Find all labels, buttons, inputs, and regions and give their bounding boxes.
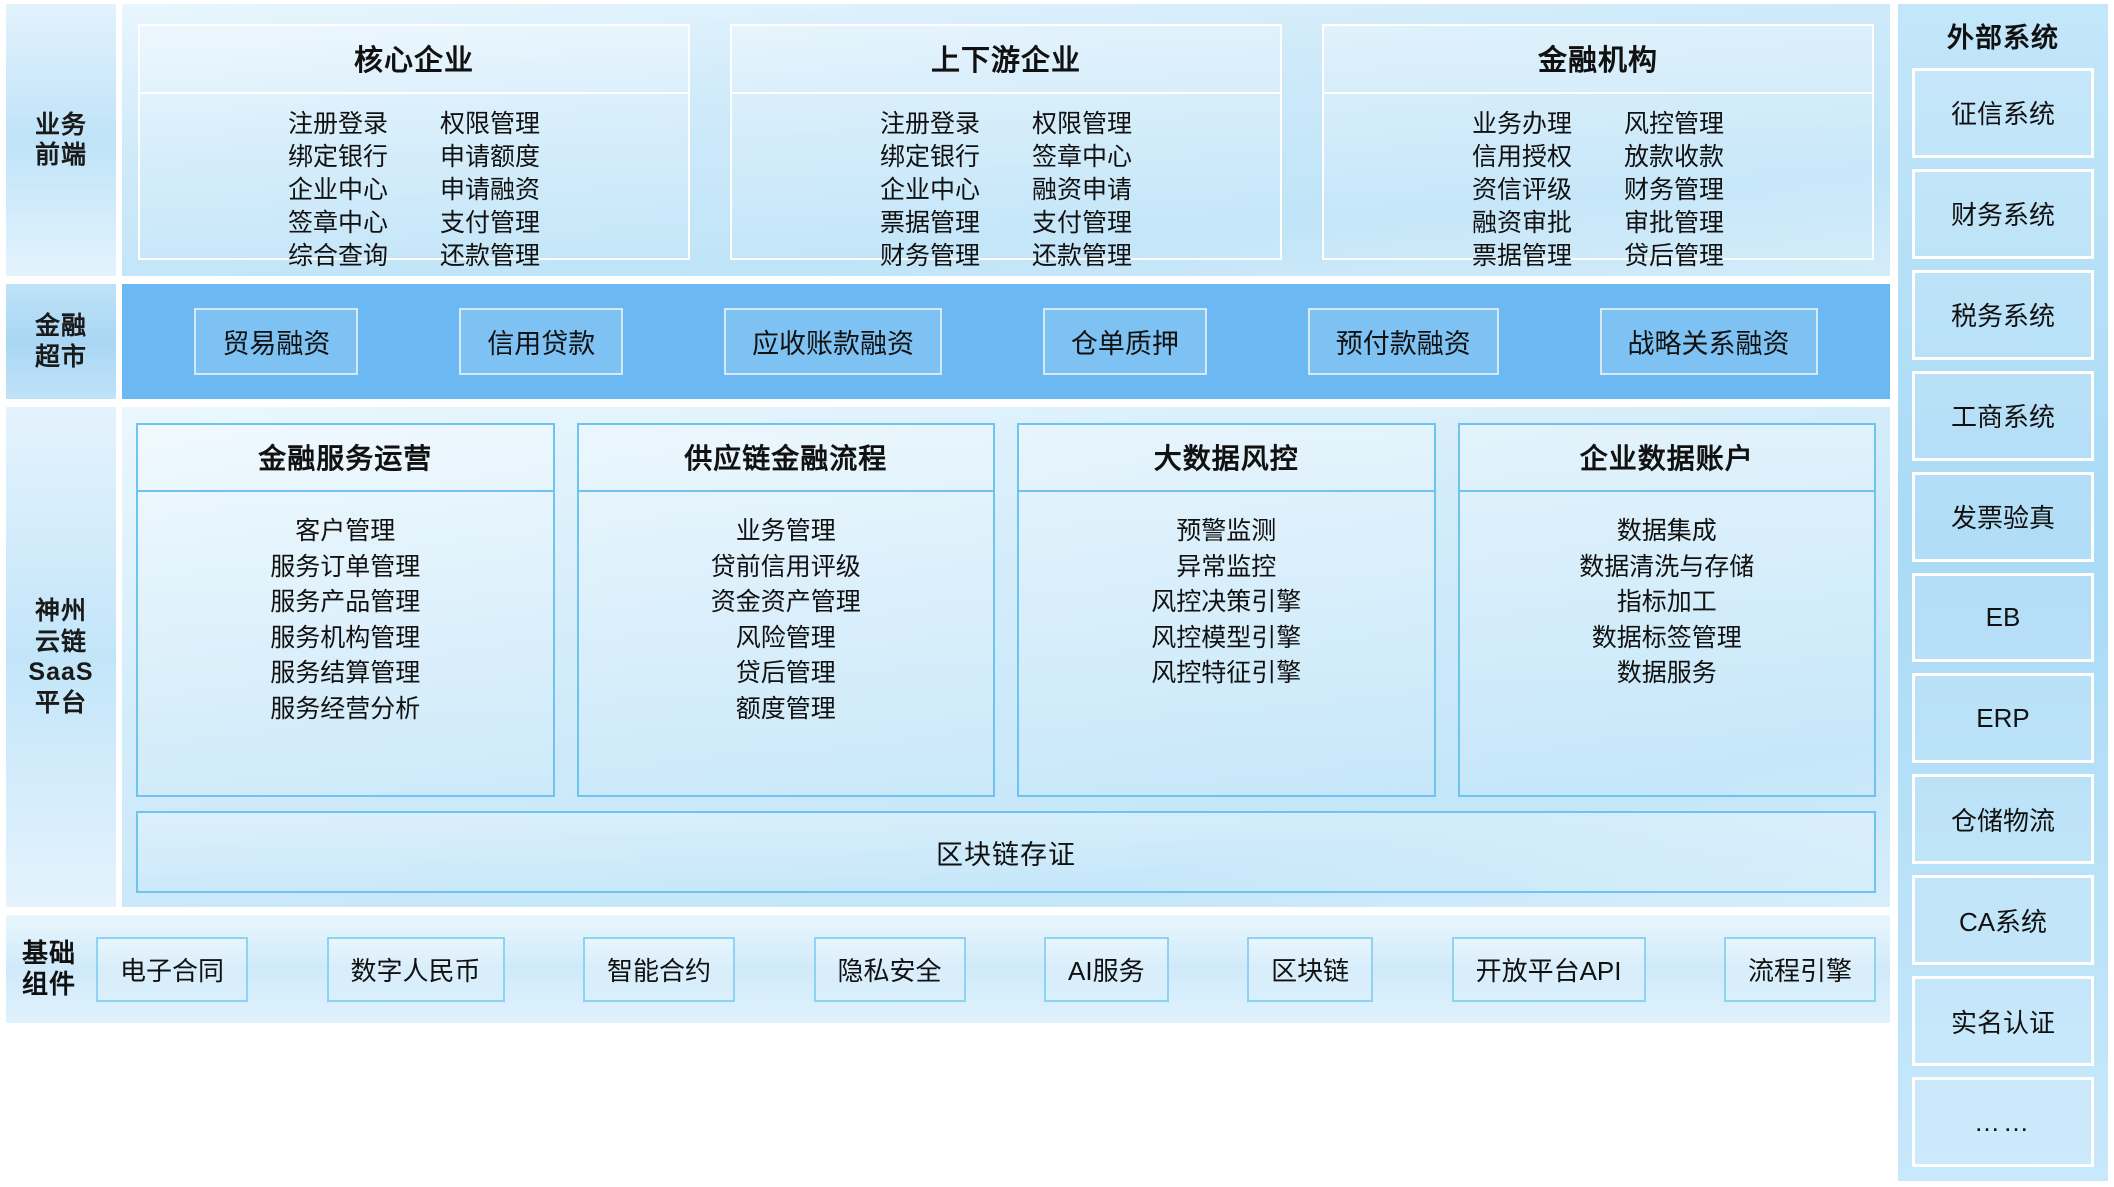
list-item: 服务结算管理 xyxy=(138,656,553,692)
external-item-real-name-auth[interactable]: 实名认证 xyxy=(1912,976,2094,1066)
external-systems-panel: 外部系统 征信系统 财务系统 税务系统 工商系统 发票验真 EB ERP 仓储物… xyxy=(1898,4,2108,1181)
card-column-left: 注册登录 绑定银行 企业中心 签章中心 综合查询 xyxy=(288,108,388,273)
financial-supermarket-label-line1: 金融 xyxy=(35,312,87,340)
list-item: 审批管理 xyxy=(1624,207,1724,240)
card-title: 企业数据账户 xyxy=(1460,425,1875,492)
saas-card-supply-chain-finance-process[interactable]: 供应链金融流程 业务管理 贷前信用评级 资金资产管理 风险管理 贷后管理 额度管… xyxy=(577,423,996,797)
list-item: 贷后管理 xyxy=(1624,240,1724,273)
base-chip-privacy-security[interactable]: 隐私安全 xyxy=(814,937,966,1002)
list-item: 票据管理 xyxy=(1472,240,1572,273)
list-item: 财务管理 xyxy=(1624,174,1724,207)
list-item: 绑定银行 xyxy=(880,141,980,174)
business-frontend-label: 业务 前端 xyxy=(6,4,116,276)
business-frontend-body: 核心企业 注册登录 绑定银行 企业中心 签章中心 综合查询 权限管理 xyxy=(122,4,1890,276)
list-item: 综合查询 xyxy=(288,240,388,273)
base-components-row: 基础 组件 电子合同 数字人民币 智能合约 隐私安全 AI服务 区块链 开放平台… xyxy=(6,915,1890,1023)
list-item: 服务经营分析 xyxy=(138,692,553,728)
list-item: 申请融资 xyxy=(440,174,540,207)
list-item: 企业中心 xyxy=(880,174,980,207)
saas-label-line3: SaaS xyxy=(28,658,93,686)
market-chip-credit-loan[interactable]: 信用贷款 xyxy=(459,308,623,375)
external-item-erp[interactable]: ERP xyxy=(1912,673,2094,763)
market-chip-receivables-finance[interactable]: 应收账款融资 xyxy=(724,308,942,375)
list-item: 风控决策引擎 xyxy=(1019,585,1434,621)
card-list: 数据集成 数据清洗与存储 指标加工 数据标签管理 数据服务 xyxy=(1460,492,1875,795)
saas-card-enterprise-data-account[interactable]: 企业数据账户 数据集成 数据清洗与存储 指标加工 数据标签管理 数据服务 xyxy=(1458,423,1877,797)
financial-supermarket-row: 金融 超市 贸易融资 信用贷款 应收账款融资 仓单质押 预付款融资 战略关系融资 xyxy=(6,284,1890,399)
financial-supermarket-body: 贸易融资 信用贷款 应收账款融资 仓单质押 预付款融资 战略关系融资 xyxy=(122,284,1890,399)
saas-platform-row: 神州 云链 SaaS 平台 金融服务运营 客户管理 服务订单管理 服务产 xyxy=(6,407,1890,907)
base-chip-process-engine[interactable]: 流程引擎 xyxy=(1724,937,1876,1002)
list-item: 支付管理 xyxy=(1032,207,1132,240)
saas-label-line4: 平台 xyxy=(35,689,87,717)
list-item: 业务管理 xyxy=(579,514,994,550)
card-column-right: 风控管理 放款收款 财务管理 审批管理 贷后管理 xyxy=(1624,108,1724,273)
list-item: 额度管理 xyxy=(579,692,994,728)
external-item-business-registration[interactable]: 工商系统 xyxy=(1912,371,2094,461)
external-item-finance-system[interactable]: 财务系统 xyxy=(1912,169,2094,259)
external-item-credit-reporting[interactable]: 征信系统 xyxy=(1912,68,2094,158)
base-label-line2: 组件 xyxy=(22,969,76,999)
list-item: 注册登录 xyxy=(288,108,388,141)
card-columns: 注册登录 绑定银行 企业中心 票据管理 财务管理 权限管理 签章中心 融资申请 … xyxy=(732,94,1280,279)
list-item: 信用授权 xyxy=(1472,141,1572,174)
market-chip-strategic-relation-finance[interactable]: 战略关系融资 xyxy=(1600,308,1818,375)
card-columns: 业务办理 信用授权 资信评级 融资审批 票据管理 风控管理 放款收款 财务管理 … xyxy=(1324,94,1872,279)
list-item: 服务产品管理 xyxy=(138,585,553,621)
list-item: 风险管理 xyxy=(579,621,994,657)
list-item: 风控特征引擎 xyxy=(1019,656,1434,692)
main-column: 业务 前端 核心企业 注册登录 绑定银行 企业中心 签章中心 xyxy=(6,4,1890,1181)
frontend-card-upstream-downstream[interactable]: 上下游企业 注册登录 绑定银行 企业中心 票据管理 财务管理 权限管理 xyxy=(730,24,1282,260)
blockchain-notarization-bar[interactable]: 区块链存证 xyxy=(136,811,1876,893)
saas-label-line2: 云链 xyxy=(35,628,87,656)
list-item: 业务办理 xyxy=(1472,108,1572,141)
list-item: 预警监测 xyxy=(1019,514,1434,550)
list-item: 还款管理 xyxy=(1032,240,1132,273)
list-item: 绑定银行 xyxy=(288,141,388,174)
card-column-left: 业务办理 信用授权 资信评级 融资审批 票据管理 xyxy=(1472,108,1572,273)
saas-platform-body: 金融服务运营 客户管理 服务订单管理 服务产品管理 服务机构管理 服务结算管理 … xyxy=(122,407,1890,907)
base-chip-ai-service[interactable]: AI服务 xyxy=(1044,937,1169,1002)
business-frontend-label-line2: 前端 xyxy=(35,141,87,169)
list-item: 服务订单管理 xyxy=(138,550,553,586)
list-item: 贷前信用评级 xyxy=(579,550,994,586)
list-item: 注册登录 xyxy=(880,108,980,141)
list-item: 指标加工 xyxy=(1460,585,1875,621)
card-list: 预警监测 异常监控 风控决策引擎 风控模型引擎 风控特征引擎 xyxy=(1019,492,1434,795)
card-title: 上下游企业 xyxy=(732,26,1280,94)
frontend-card-core-enterprise[interactable]: 核心企业 注册登录 绑定银行 企业中心 签章中心 综合查询 权限管理 xyxy=(138,24,690,260)
card-title: 金融服务运营 xyxy=(138,425,553,492)
list-item: 风控管理 xyxy=(1624,108,1724,141)
list-item: 企业中心 xyxy=(288,174,388,207)
market-chip-prepayment-finance[interactable]: 预付款融资 xyxy=(1308,308,1499,375)
saas-card-financial-service-operation[interactable]: 金融服务运营 客户管理 服务订单管理 服务产品管理 服务机构管理 服务结算管理 … xyxy=(136,423,555,797)
base-chip-blockchain[interactable]: 区块链 xyxy=(1247,937,1373,1002)
list-item: 还款管理 xyxy=(440,240,540,273)
card-column-left: 注册登录 绑定银行 企业中心 票据管理 财务管理 xyxy=(880,108,980,273)
card-column-right: 权限管理 申请额度 申请融资 支付管理 还款管理 xyxy=(440,108,540,273)
external-item-warehouse-logistics[interactable]: 仓储物流 xyxy=(1912,774,2094,864)
market-chip-warehouse-receipt-pledge[interactable]: 仓单质押 xyxy=(1043,308,1207,375)
base-label-line1: 基础 xyxy=(22,938,76,968)
architecture-diagram: 业务 前端 核心企业 注册登录 绑定银行 企业中心 签章中心 xyxy=(0,0,2114,1187)
card-list: 客户管理 服务订单管理 服务产品管理 服务机构管理 服务结算管理 服务经营分析 xyxy=(138,492,553,795)
list-item: 资金资产管理 xyxy=(579,585,994,621)
card-title: 大数据风控 xyxy=(1019,425,1434,492)
list-item: 异常监控 xyxy=(1019,550,1434,586)
card-title: 核心企业 xyxy=(140,26,688,94)
list-item: 贷后管理 xyxy=(579,656,994,692)
business-frontend-label-line1: 业务 xyxy=(35,111,87,139)
card-title: 金融机构 xyxy=(1324,26,1872,94)
base-chip-digital-rmb[interactable]: 数字人民币 xyxy=(327,937,505,1002)
base-chip-electronic-contract[interactable]: 电子合同 xyxy=(96,937,248,1002)
list-item: 权限管理 xyxy=(1032,108,1132,141)
card-column-right: 权限管理 签章中心 融资申请 支付管理 还款管理 xyxy=(1032,108,1132,273)
market-chip-trade-finance[interactable]: 贸易融资 xyxy=(194,308,358,375)
frontend-card-financial-institution[interactable]: 金融机构 业务办理 信用授权 资信评级 融资审批 票据管理 风控管理 xyxy=(1322,24,1874,260)
base-components-chips: 电子合同 数字人民币 智能合约 隐私安全 AI服务 区块链 开放平台API 流程… xyxy=(96,937,1876,1002)
list-item: 申请额度 xyxy=(440,141,540,174)
saas-card-bigdata-risk-control[interactable]: 大数据风控 预警监测 异常监控 风控决策引擎 风控模型引擎 风控特征引擎 xyxy=(1017,423,1436,797)
external-item-eb[interactable]: EB xyxy=(1912,573,2094,663)
list-item: 数据清洗与存储 xyxy=(1460,550,1875,586)
card-columns: 注册登录 绑定银行 企业中心 签章中心 综合查询 权限管理 申请额度 申请融资 … xyxy=(140,94,688,279)
base-chip-smart-contract[interactable]: 智能合约 xyxy=(583,937,735,1002)
list-item: 权限管理 xyxy=(440,108,540,141)
list-item: 资信评级 xyxy=(1472,174,1572,207)
list-item: 签章中心 xyxy=(1032,141,1132,174)
list-item: 客户管理 xyxy=(138,514,553,550)
card-title: 供应链金融流程 xyxy=(579,425,994,492)
list-item: 服务机构管理 xyxy=(138,621,553,657)
external-item-tax-system[interactable]: 税务系统 xyxy=(1912,270,2094,360)
external-item-more[interactable]: …… xyxy=(1912,1077,2094,1167)
external-item-invoice-verification[interactable]: 发票验真 xyxy=(1912,472,2094,562)
base-chip-open-platform-api[interactable]: 开放平台API xyxy=(1452,937,1646,1002)
list-item: 票据管理 xyxy=(880,207,980,240)
saas-cards: 金融服务运营 客户管理 服务订单管理 服务产品管理 服务机构管理 服务结算管理 … xyxy=(136,423,1876,797)
list-item: 放款收款 xyxy=(1624,141,1724,174)
external-item-ca-system[interactable]: CA系统 xyxy=(1912,875,2094,965)
financial-supermarket-label: 金融 超市 xyxy=(6,284,116,399)
list-item: 签章中心 xyxy=(288,207,388,240)
list-item: 支付管理 xyxy=(440,207,540,240)
list-item: 财务管理 xyxy=(880,240,980,273)
saas-label-line1: 神州 xyxy=(35,597,87,625)
financial-supermarket-label-line2: 超市 xyxy=(35,343,87,371)
list-item: 数据集成 xyxy=(1460,514,1875,550)
external-systems-title: 外部系统 xyxy=(1947,16,2059,55)
list-item: 数据标签管理 xyxy=(1460,621,1875,657)
base-components-label: 基础 组件 xyxy=(22,938,76,1000)
card-list: 业务管理 贷前信用评级 资金资产管理 风险管理 贷后管理 额度管理 xyxy=(579,492,994,795)
saas-platform-label: 神州 云链 SaaS 平台 xyxy=(6,407,116,907)
list-item: 融资审批 xyxy=(1472,207,1572,240)
business-frontend-row: 业务 前端 核心企业 注册登录 绑定银行 企业中心 签章中心 xyxy=(6,4,1890,276)
list-item: 融资申请 xyxy=(1032,174,1132,207)
list-item: 风控模型引擎 xyxy=(1019,621,1434,657)
list-item: 数据服务 xyxy=(1460,656,1875,692)
